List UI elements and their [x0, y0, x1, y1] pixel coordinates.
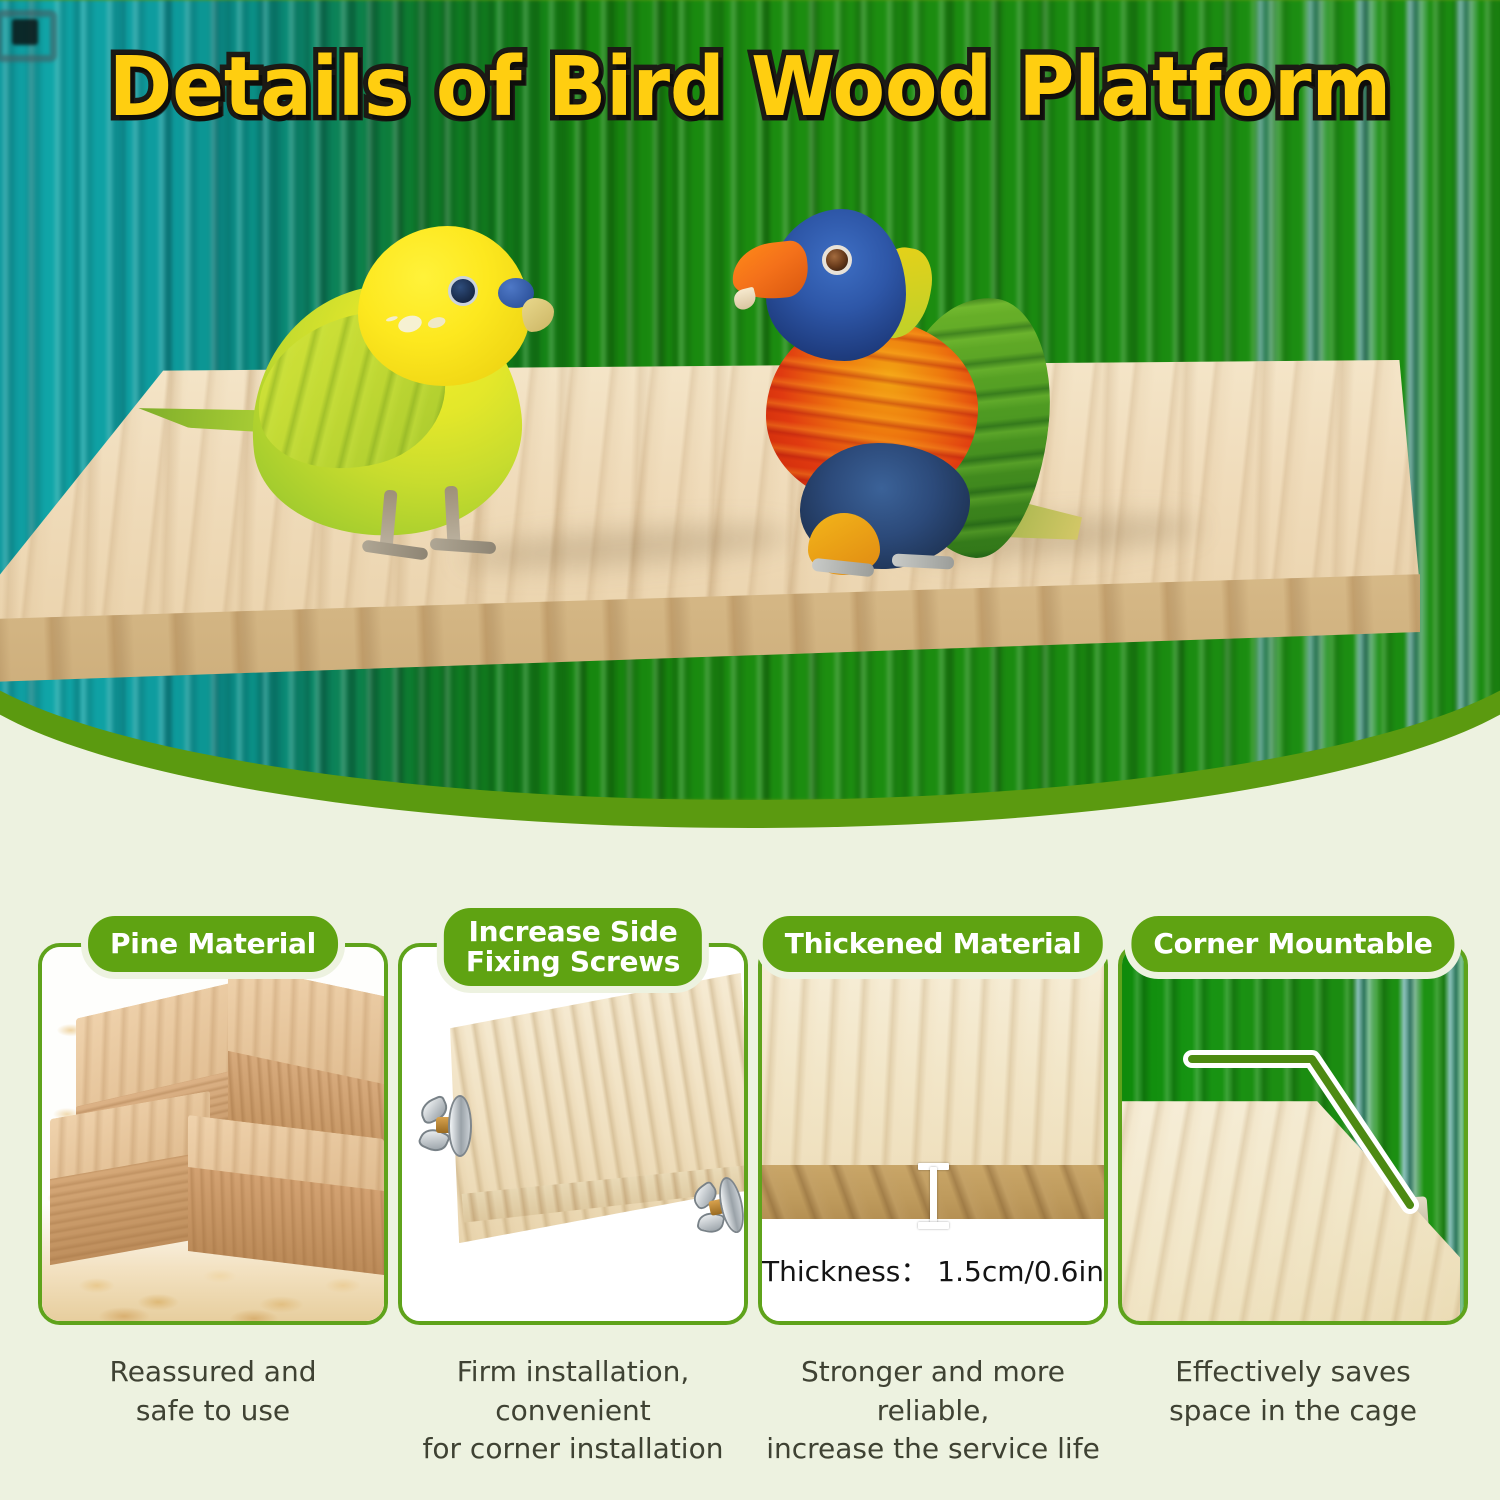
budgie-beak	[522, 298, 554, 332]
budgie-eye	[448, 276, 478, 306]
hero-section: Details of Bird Wood Platform	[0, 0, 1500, 830]
card-badge-fixing-screws: Increase Side Fixing Screws	[437, 901, 709, 993]
card-image-frame: Thickness： 1.5cm/0.6in	[758, 943, 1108, 1325]
card-image-frame	[398, 943, 748, 1325]
pine-lumber-illustration	[42, 947, 384, 1321]
card-badge-pine-material: Pine Material	[81, 909, 345, 979]
card-badge-thickened-material: Thickened Material	[756, 909, 1110, 979]
feature-card-fixing-screws[interactable]: Increase Side Fixing Screws Firm install…	[398, 905, 748, 1335]
dimension-bar	[930, 1167, 937, 1225]
card-caption-fixing-screws: Firm installation, convenient for corner…	[384, 1353, 762, 1469]
card-image-frame	[1118, 943, 1468, 1325]
board-top-face	[762, 947, 1104, 1165]
card-badge-corner-mountable: Corner Mountable	[1124, 909, 1461, 979]
budgerigar-bird	[130, 190, 600, 590]
card-caption-thickened-material: Stronger and more reliable, increase the…	[744, 1353, 1122, 1469]
thickness-label-strip: Thickness： 1.5cm/0.6in	[762, 1219, 1104, 1321]
card-caption-pine-material: Reassured and safe to use	[24, 1353, 402, 1430]
wing-nut-washer	[448, 1095, 472, 1157]
dimension-marker-icon	[918, 1163, 948, 1229]
page-title: Details of Bird Wood Platform	[53, 47, 1448, 129]
card-caption-corner-mountable: Effectively saves space in the cage	[1104, 1353, 1482, 1430]
feature-card-pine-material[interactable]: Pine Material Reassured and safe to use	[38, 905, 388, 1335]
card-image-frame	[38, 943, 388, 1325]
corner-mount-illustration	[1122, 947, 1464, 1321]
wing-nut-screw-icon	[418, 1089, 492, 1163]
cage-latch-icon	[0, 10, 57, 62]
budgie-head	[358, 226, 530, 386]
feature-card-thickened-material[interactable]: Thickness： 1.5cm/0.6in Thickened Materia…	[758, 905, 1108, 1335]
budgie-foot	[430, 538, 497, 555]
thickness-text: Thickness： 1.5cm/0.6in	[762, 1250, 1104, 1290]
feature-card-corner-mountable[interactable]: Corner Mountable Effectively saves space…	[1118, 905, 1468, 1335]
budgie-foot	[361, 539, 428, 560]
board-with-screws-illustration	[402, 947, 744, 1321]
corner-angle-highlight-icon	[1122, 947, 1464, 1321]
infographic-page: Details of Bird Wood Platform	[0, 0, 1500, 1500]
lorikeet-beak-tip	[732, 287, 758, 312]
thickness-illustration: Thickness： 1.5cm/0.6in	[762, 947, 1104, 1321]
dimension-cap-bottom	[918, 1222, 949, 1229]
lorikeet-eye	[822, 245, 852, 275]
rainbow-lorikeet-bird	[730, 195, 1080, 595]
wing-nut-screw-icon	[687, 1166, 748, 1247]
feature-cards: Pine Material Reassured and safe to use	[0, 905, 1500, 1500]
